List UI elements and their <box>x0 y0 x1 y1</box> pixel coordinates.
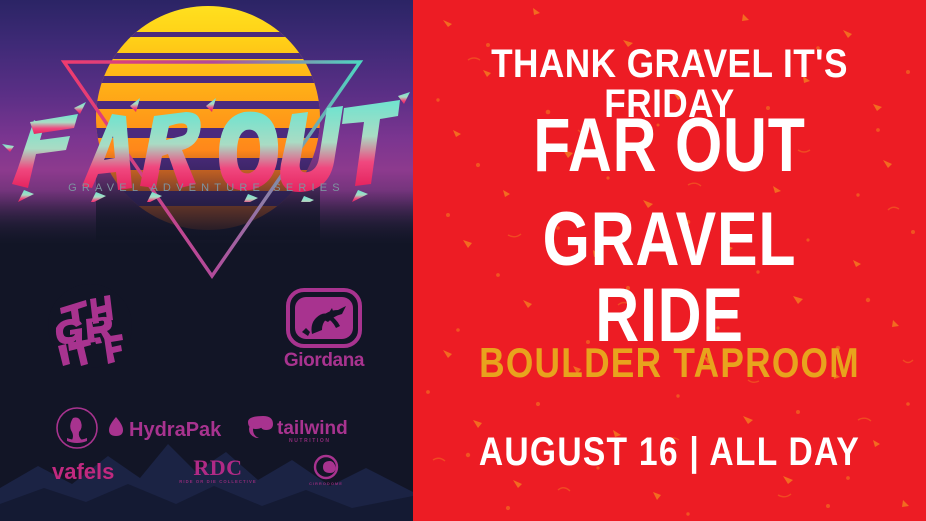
sponsor-row-2: vafels RDC RIDE OR DIE COLLECTIVE CIRROD… <box>0 448 413 494</box>
svg-text:RDC: RDC <box>193 456 242 480</box>
svg-text:NUTRITION: NUTRITION <box>289 438 331 444</box>
venue-text: BOULDER TAPROOM <box>454 342 885 384</box>
thank-gravel-its-friday-badge: T <box>46 282 134 370</box>
svg-text:tailwind: tailwind <box>277 418 348 439</box>
date-text: AUGUST 16 | ALL DAY <box>454 432 885 472</box>
vafels-logo: vafels <box>48 458 152 484</box>
sponsor-row-1: HydraPak tailwind NUTRITION <box>0 406 413 450</box>
svg-text:HydraPak: HydraPak <box>129 419 222 441</box>
rdc-logo: RDC RIDE OR DIE COLLECTIVE <box>152 456 266 486</box>
title-line-2: GRAVEL RIDE <box>464 202 874 354</box>
tailwind-nutrition-logo: tailwind NUTRITION <box>233 412 359 444</box>
logo-tagline: GRAVEL ADVENTURE SERIES <box>0 182 413 194</box>
giordana-wordmark: Giordana <box>284 350 365 371</box>
right-panel-copy: THANK GRAVEL IT'S FRIDAY FAR OUT GRAVEL … <box>413 0 926 521</box>
circle-c-logo: CIRRODOME <box>266 454 366 488</box>
svg-text:vafels: vafels <box>52 459 114 484</box>
right-text-panel: THANK GRAVEL IT'S FRIDAY FAR OUT GRAVEL … <box>413 0 926 521</box>
hydrapak-logo: HydraPak <box>99 413 233 443</box>
title-line-1: FAR OUT <box>464 108 874 184</box>
bird-emblem-logo <box>55 406 99 450</box>
event-promo-poster: GRAVEL ADVENTURE SERIES T <box>0 0 926 521</box>
svg-text:CIRRODOME: CIRRODOME <box>309 481 343 486</box>
giordana-logo: Giordana <box>276 288 372 372</box>
svg-text:RIDE OR DIE COLLECTIVE: RIDE OR DIE COLLECTIVE <box>179 479 256 484</box>
left-artwork-panel: GRAVEL ADVENTURE SERIES T <box>0 0 413 521</box>
